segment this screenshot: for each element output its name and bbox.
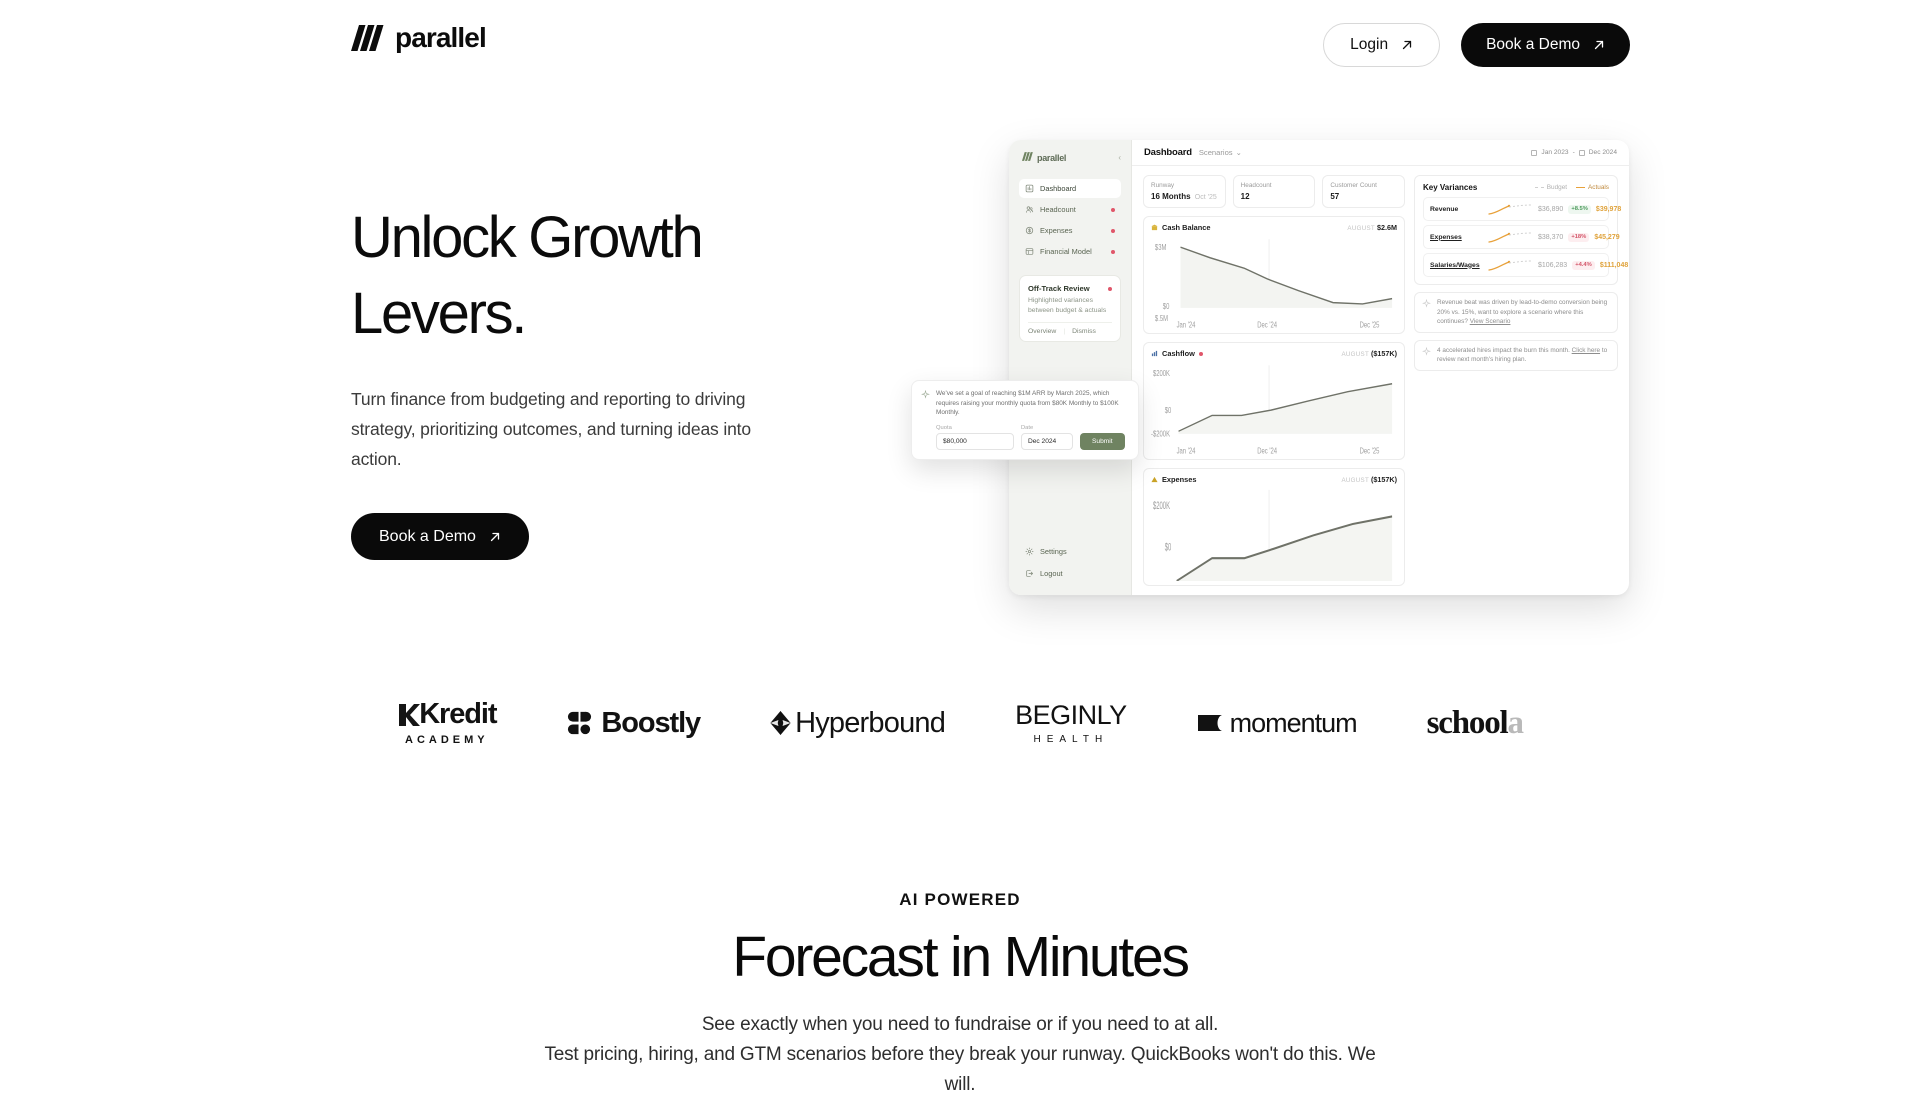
variance-actual: $45,279 <box>1594 234 1619 241</box>
quota-field-group: Quota $80,000 <box>936 425 1014 450</box>
kpi-note: Oct '25 <box>1195 194 1217 201</box>
kpi-customer-count: Customer Count 57 <box>1322 175 1405 208</box>
customer-logo-strip: Kredit ACADEMY Boostly Hyperbound <box>0 700 1920 746</box>
k-mark-icon <box>397 702 421 728</box>
kpi-value: 12 <box>1241 192 1308 201</box>
sidebar-label: Logout <box>1040 569 1063 578</box>
svg-text:$0: $0 <box>1165 407 1172 415</box>
sidebar-label: Settings <box>1040 547 1067 556</box>
chart-title: Cashflow <box>1162 349 1195 358</box>
calendar-icon <box>1579 150 1585 156</box>
subtitle-line-1: See exactly when you need to fundraise o… <box>702 1014 1218 1035</box>
logo-hyperbound: Hyperbound <box>770 709 945 738</box>
chart-period: AUGUST <box>1341 351 1369 358</box>
sidebar-label: Expenses <box>1040 226 1072 235</box>
svg-text:$200K: $200K <box>1153 370 1170 378</box>
date-field-group: Date Dec 2024 <box>1021 425 1073 450</box>
mockup-brand-name: parallel <box>1037 153 1066 163</box>
sidebar-item-financial-model[interactable]: Financial Model <box>1019 242 1121 261</box>
section-title: Forecast in Minutes <box>0 928 1920 988</box>
ai-insight-text: 4 accelerated hires impact the burn this… <box>1437 346 1610 365</box>
mockup-sidebar: parallel ‹ Dashboard <box>1009 140 1132 595</box>
kpi-row: Runway 16 Months Oct '25 Headcount 12 Cu… <box>1143 175 1405 208</box>
hero-cta-label: Book a Demo <box>379 529 476 545</box>
variance-sparkline <box>1487 258 1533 272</box>
mockup-page-title: Dashboard <box>1144 147 1192 158</box>
kpi-label: Runway <box>1151 182 1218 189</box>
bar-chart-icon <box>1151 350 1158 357</box>
off-track-dismiss-link[interactable]: Dismiss <box>1072 328 1096 335</box>
alert-dot <box>1108 287 1112 291</box>
logo-momentum: momentum <box>1197 710 1357 737</box>
logo-word: schoola <box>1427 707 1523 740</box>
variance-sparkline <box>1487 230 1533 244</box>
insight-body: Revenue beat was driven by lead-to-demo … <box>1437 299 1607 325</box>
key-variances-title: Key Variances <box>1423 183 1477 192</box>
kpi-number: 16 Months <box>1151 192 1191 201</box>
variance-pct: +4.4% <box>1572 261 1595 270</box>
chart-header: Cash Balance AUGUST$2.6M <box>1151 223 1397 232</box>
book-demo-label: Book a Demo <box>1486 37 1580 53</box>
date-label: Date <box>1021 425 1073 431</box>
ai-insight-card[interactable]: Revenue beat was driven by lead-to-demo … <box>1414 292 1618 333</box>
logo-subtitle: ACADEMY <box>405 734 489 746</box>
chevron-left-icon[interactable]: ‹ <box>1118 153 1121 162</box>
svg-text:Jan '24: Jan '24 <box>1177 448 1196 455</box>
variance-name: Revenue <box>1430 206 1482 213</box>
logo-beginly-health: BEGINLY HEALTH <box>1015 702 1127 745</box>
login-button[interactable]: Login <box>1323 23 1440 67</box>
dashboard-mockup: parallel ‹ Dashboard <box>1009 140 1629 595</box>
ai-insight-text: Revenue beat was driven by lead-to-demo … <box>1437 298 1610 327</box>
legend-budget: Budget <box>1535 184 1567 191</box>
mockup-window: parallel ‹ Dashboard <box>1009 140 1629 595</box>
svg-text:$.5M: $.5M <box>1155 315 1168 323</box>
off-track-overview-link[interactable]: Overview <box>1028 328 1056 335</box>
chart-title: Cash Balance <box>1162 223 1210 232</box>
parallel-stripes-logo <box>1022 152 1033 163</box>
chart-header: Cashflow AUGUST($157K) <box>1151 349 1397 358</box>
hero-title-line-1: Unlock Growth <box>351 205 701 270</box>
kpi-value: 16 Months Oct '25 <box>1151 192 1218 201</box>
insight-body-before: 4 accelerated hires impact the burn this… <box>1437 347 1570 354</box>
scenarios-label: Scenarios <box>1199 148 1233 157</box>
alert-dot <box>1111 208 1115 212</box>
calendar-icon <box>1531 150 1537 156</box>
off-track-title-row: Off-Track Review <box>1028 284 1112 293</box>
svg-text:Dec '25: Dec '25 <box>1360 322 1380 329</box>
arrow-up-right-icon <box>1401 39 1413 51</box>
click-here-link[interactable]: Click here <box>1572 347 1600 354</box>
goal-popup: We've set a goal of reaching $1M ARR by … <box>911 380 1139 460</box>
chart-plot-cashflow: $200K $0 -$200K Jan '24 Dec '24 Dec '25 <box>1151 360 1397 455</box>
sparkle-icon <box>1422 347 1431 356</box>
bowtie-icon <box>1197 713 1223 733</box>
divider: | <box>1063 328 1065 335</box>
chart-card-cashflow: Cashflow AUGUST($157K) $200K <box>1143 342 1405 460</box>
kpi-headcount: Headcount 12 <box>1233 175 1316 208</box>
svg-text:$0: $0 <box>1163 304 1170 312</box>
sidebar-item-settings[interactable]: Settings <box>1019 542 1121 561</box>
logo-word: Kredit <box>419 700 496 729</box>
svg-text:Jan '24: Jan '24 <box>1177 322 1196 329</box>
logo-word: Hyperbound <box>795 709 945 738</box>
svg-text:$200K: $200K <box>1153 499 1170 512</box>
kpi-runway: Runway 16 Months Oct '25 <box>1143 175 1226 208</box>
mockup-right-column: Key Variances Budget Actuals Revenue <box>1414 175 1618 586</box>
boostly-petals-icon <box>566 710 593 737</box>
login-label: Login <box>1350 37 1388 53</box>
svg-text:Dec '25: Dec '25 <box>1360 448 1380 455</box>
off-track-review-card: Off-Track Review Highlighted variances b… <box>1019 275 1121 342</box>
logo-schoolai: schoola <box>1427 707 1523 740</box>
mockup-main: Dashboard Scenarios ⌄ Jan 2023 - Dec 202… <box>1132 140 1629 595</box>
quota-label: Quota <box>936 425 1014 431</box>
legend-swatch-budget <box>1535 187 1544 188</box>
chart-amount: AUGUST$2.6M <box>1347 223 1397 232</box>
key-variances-card: Key Variances Budget Actuals Revenue <box>1414 175 1618 285</box>
variance-budget: $36,890 <box>1538 206 1563 213</box>
off-track-body: Highlighted variances between budget & a… <box>1028 296 1112 316</box>
sparkle-icon <box>1422 299 1431 308</box>
variance-name: Expenses <box>1430 234 1482 241</box>
range-end: Dec 2024 <box>1589 149 1617 156</box>
people-icon <box>1025 205 1034 214</box>
sparkle-icon <box>921 390 930 399</box>
warning-icon <box>1151 476 1158 483</box>
sidebar-footer: Settings Logout <box>1019 542 1121 583</box>
legend-actuals: Actuals <box>1576 184 1609 191</box>
chevron-down-icon: ⌄ <box>1236 148 1242 157</box>
sidebar-item-headcount[interactable]: Headcount <box>1019 200 1121 219</box>
chart-period: AUGUST <box>1347 225 1375 232</box>
logout-icon <box>1025 569 1034 578</box>
sidebar-item-dashboard[interactable]: Dashboard <box>1019 179 1121 198</box>
variance-sparkline <box>1487 202 1533 216</box>
ai-insight-card[interactable]: 4 accelerated hires impact the burn this… <box>1414 340 1618 371</box>
chart-card-expenses: Expenses AUGUST($157K) $200K $ <box>1143 468 1405 586</box>
variance-name: Salaries/Wages <box>1430 262 1482 269</box>
chart-card-cash-balance: Cash Balance AUGUST$2.6M $3M $ <box>1143 216 1405 334</box>
variance-pct: +18% <box>1568 233 1589 242</box>
variance-budget: $38,370 <box>1538 234 1563 241</box>
book-demo-button-hero[interactable]: Book a Demo <box>351 513 529 560</box>
alert-dot <box>1199 352 1203 356</box>
chart-header: Expenses AUGUST($157K) <box>1151 475 1397 484</box>
bank-icon <box>1151 224 1158 231</box>
chart-amount: AUGUST($157K) <box>1341 349 1397 358</box>
dashboard-icon <box>1025 184 1034 193</box>
variance-row[interactable]: Salaries/Wages $106,283 +4.4% $111,048 <box>1423 253 1609 277</box>
kpi-label: Customer Count <box>1330 182 1397 189</box>
mockup-topbar: Dashboard Scenarios ⌄ Jan 2023 - Dec 202… <box>1132 140 1629 166</box>
parallel-stripes-logo <box>351 25 384 51</box>
subtitle-line-2: Test pricing, hiring, and GTM scenarios … <box>544 1044 1375 1065</box>
variance-actual: $39,978 <box>1596 206 1621 213</box>
book-demo-button-header[interactable]: Book a Demo <box>1461 23 1630 67</box>
logo-kredit-academy: Kredit ACADEMY <box>397 700 496 746</box>
goal-popup-fields: Quota $80,000 Date Dec 2024 Submit <box>936 425 1129 450</box>
sidebar-item-logout[interactable]: Logout <box>1019 564 1121 583</box>
svg-text:$3M: $3M <box>1155 244 1167 252</box>
logo-word: BEGINLY <box>1015 702 1127 729</box>
mockup-nav: Dashboard Headcount Expe <box>1019 179 1121 261</box>
alert-dot <box>1111 250 1115 254</box>
chart-value: ($157K) <box>1371 475 1397 484</box>
off-track-actions: Overview | Dismiss <box>1028 322 1112 335</box>
section-subtitle: See exactly when you need to fundraise o… <box>0 1010 1920 1100</box>
goal-popup-text: We've set a goal of reaching $1M ARR by … <box>936 389 1129 418</box>
ai-powered-section: AI POWERED Forecast in Minutes See exact… <box>0 890 1920 1100</box>
mockup-brand: parallel ‹ <box>1019 152 1121 163</box>
variance-budget: $106,283 <box>1538 262 1567 269</box>
chart-legend: Budget Actuals <box>1535 184 1609 191</box>
legend-swatch-actuals <box>1576 187 1585 188</box>
dollar-circle-icon <box>1025 226 1034 235</box>
sidebar-label: Financial Model <box>1040 247 1092 256</box>
date-range-picker[interactable]: Jan 2023 - Dec 2024 <box>1531 149 1617 156</box>
brand-logo[interactable]: parallel <box>351 24 486 52</box>
range-start: Jan 2023 <box>1541 149 1568 156</box>
scenarios-dropdown[interactable]: Scenarios ⌄ <box>1199 148 1242 157</box>
range-separator: - <box>1573 149 1575 156</box>
logo-boostly: Boostly <box>566 709 700 738</box>
submit-button[interactable]: Submit <box>1080 433 1125 450</box>
variance-row[interactable]: Expenses $38,370 +18% $45,279 <box>1423 225 1609 249</box>
mockup-content: Runway 16 Months Oct '25 Headcount 12 Cu… <box>1132 166 1629 595</box>
gear-icon <box>1025 547 1034 556</box>
mockup-left-column: Runway 16 Months Oct '25 Headcount 12 Cu… <box>1143 175 1405 586</box>
variance-row[interactable]: Revenue $36,890 +8.5% $39,978 <box>1423 197 1609 221</box>
hero-section: Unlock Growth Levers. Turn finance from … <box>351 200 821 560</box>
chart-title: Expenses <box>1162 475 1197 484</box>
quota-input[interactable]: $80,000 <box>936 433 1014 450</box>
svg-text:-$200K: -$200K <box>1151 431 1170 439</box>
off-track-title: Off-Track Review <box>1028 284 1090 293</box>
sidebar-label: Dashboard <box>1040 184 1076 193</box>
logo-word: Boostly <box>601 709 700 738</box>
svg-text:Dec '24: Dec '24 <box>1257 448 1277 455</box>
view-scenario-link[interactable]: View Scenario <box>1470 318 1511 325</box>
chart-value: ($157K) <box>1371 349 1397 358</box>
variance-actual: $111,048 <box>1600 262 1628 269</box>
table-icon <box>1025 247 1034 256</box>
chart-amount: AUGUST($157K) <box>1341 475 1397 484</box>
chart-plot-expenses: $200K $0 <box>1151 486 1397 581</box>
sidebar-label: Headcount <box>1040 205 1076 214</box>
header-actions: Login Book a Demo <box>1323 23 1630 67</box>
section-eyebrow: AI POWERED <box>0 890 1920 910</box>
brand-name: parallel <box>395 24 486 52</box>
date-input[interactable]: Dec 2024 <box>1021 433 1073 450</box>
subtitle-line-3: will. <box>945 1074 976 1095</box>
logo-word-faded: a <box>1507 705 1522 741</box>
logo-word: momentum <box>1230 710 1357 737</box>
chart-plot-cash-balance: $3M $0 $.5M Jan '24 Dec '24 Dec '25 <box>1151 234 1397 329</box>
svg-text:$0: $0 <box>1165 541 1172 554</box>
svg-text:Dec '24: Dec '24 <box>1257 322 1277 329</box>
chart-value: $2.6M <box>1377 223 1397 232</box>
arrow-up-right-icon <box>1593 39 1605 51</box>
diamond-icon <box>770 711 791 735</box>
hero-subtitle: Turn finance from budgeting and reportin… <box>351 384 781 474</box>
logo-subtitle: HEALTH <box>1033 734 1108 745</box>
key-variances-header: Key Variances Budget Actuals <box>1423 183 1609 192</box>
variance-pct: +8.5% <box>1568 205 1591 214</box>
chart-period: AUGUST <box>1341 477 1369 484</box>
page-title: Unlock Growth Levers. <box>351 200 821 352</box>
sidebar-item-expenses[interactable]: Expenses <box>1019 221 1121 240</box>
alert-dot <box>1111 229 1115 233</box>
kpi-value: 57 <box>1330 192 1397 201</box>
hero-title-line-2: Levers. <box>351 281 525 346</box>
arrow-up-right-icon <box>489 531 501 543</box>
site-header: parallel Login Book a Demo <box>0 0 1920 94</box>
kpi-label: Headcount <box>1241 182 1308 189</box>
